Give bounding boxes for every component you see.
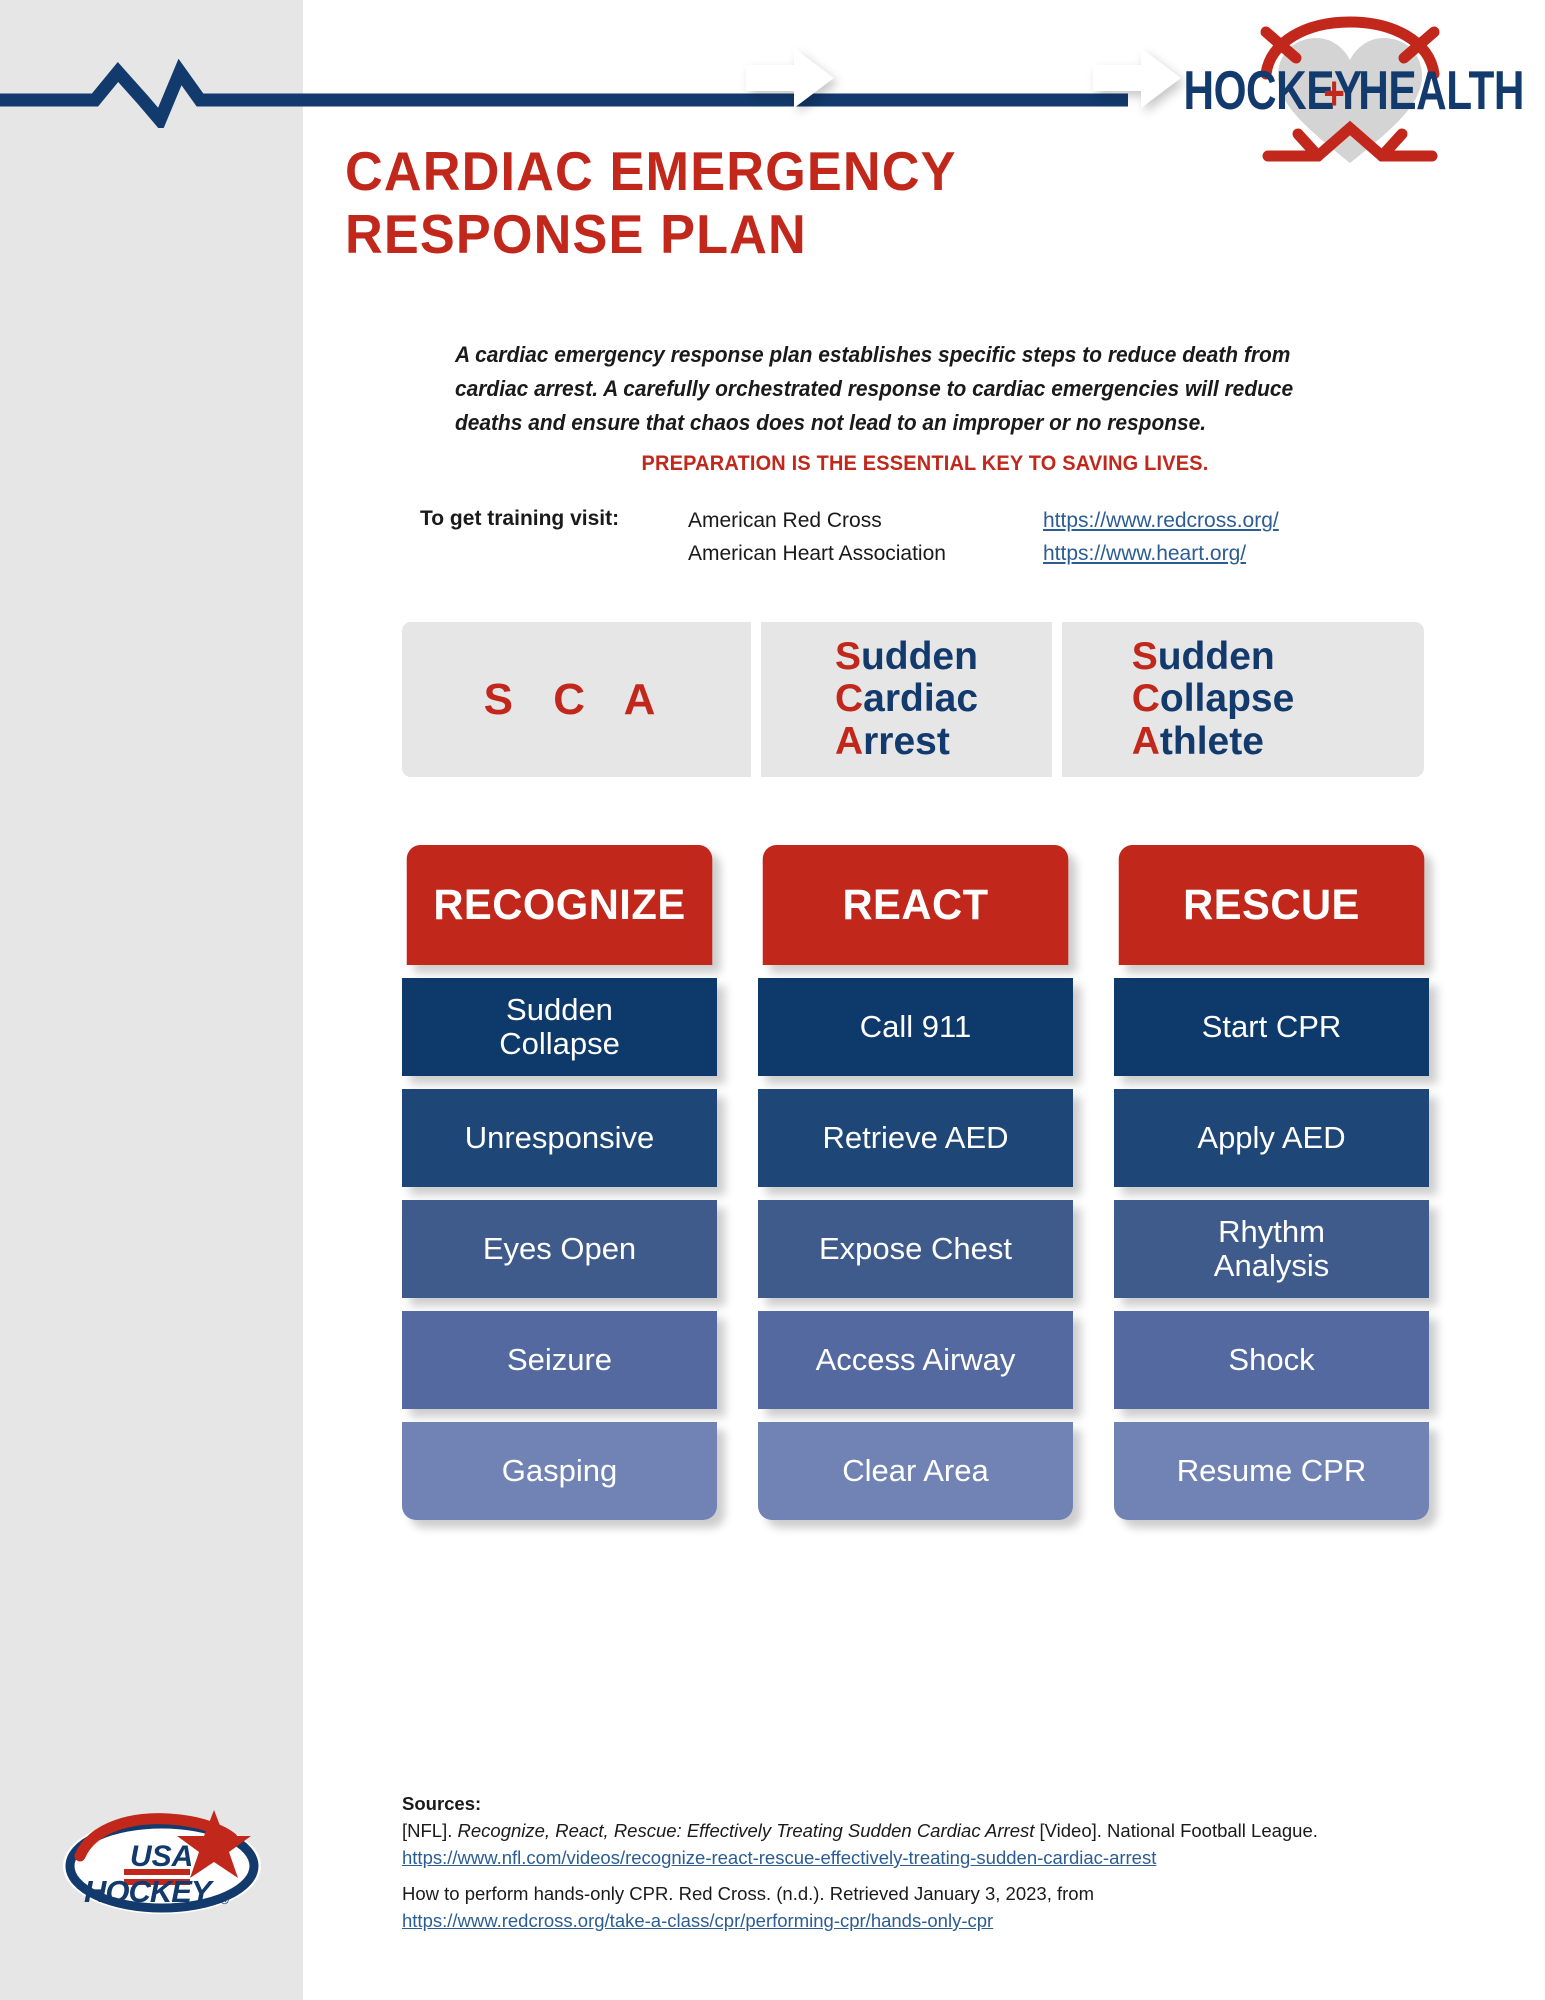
sca-cap-c: C (835, 677, 863, 720)
column-header-recognize: RECOGNIZE (407, 845, 713, 965)
step-label: Gasping (502, 1454, 617, 1488)
step-label: Eyes Open (483, 1232, 636, 1266)
intro-paragraph: A cardiac emergency response plan establ… (455, 338, 1329, 439)
step-cell: Gasping (402, 1422, 717, 1520)
column-rescue: RESCUE Start CPR Apply AED RhythmAnalysi… (1114, 845, 1429, 1520)
step-cell: Call 911 (758, 978, 1073, 1076)
sca-rest: rrest (863, 720, 950, 763)
hockey-health-logo: HOCKEY + HEALTH (1178, 8, 1523, 173)
step-label: Call 911 (860, 1010, 971, 1044)
sources-section: Sources: [NFL]. Recognize, React, Rescue… (402, 1790, 1462, 1934)
column-recognize: RECOGNIZE SuddenCollapse Unresponsive Ey… (402, 845, 717, 1520)
step-cell: Apply AED (1114, 1089, 1429, 1187)
step-cell: Expose Chest (758, 1200, 1073, 1298)
sca-step-3-cell: Sudden Collapse Athlete (1062, 622, 1364, 777)
training-row: American Heart Association https://www.h… (688, 538, 1279, 571)
step-label: RhythmAnalysis (1214, 1215, 1329, 1283)
source-entry-2: How to perform hands-only CPR. Red Cross… (402, 1880, 1462, 1907)
heartbeat-line-icon (0, 58, 1130, 128)
step-label: Start CPR (1202, 1010, 1342, 1044)
step-cell: Shock (1114, 1311, 1429, 1409)
sca-rest: udden (1158, 635, 1275, 678)
column-header-rescue: RESCUE (1119, 845, 1425, 965)
usa-text: USA (130, 1840, 193, 1873)
left-gray-rail (0, 0, 303, 2000)
arrow-right-icon (746, 48, 834, 108)
step-label: Seizure (507, 1343, 612, 1377)
training-org-list: American Red Cross https://www.redcross.… (688, 505, 1279, 570)
step-label: Apply AED (1197, 1121, 1345, 1155)
org-link[interactable]: https://www.redcross.org/ (1043, 505, 1279, 538)
sca-cap-a: A (835, 720, 863, 763)
step-cell: Retrieve AED (758, 1089, 1073, 1187)
sca-cap-a: A (1132, 720, 1160, 763)
step-label: Unresponsive (465, 1121, 655, 1155)
step-cell: Resume CPR (1114, 1422, 1429, 1520)
step-cell: Start CPR (1114, 978, 1429, 1076)
sca-rest: udden (861, 635, 978, 678)
poster-page: HOCKEY + HEALTH CARDIAC EMERGENCY RESPON… (0, 0, 1545, 2000)
tagline: PREPARATION IS THE ESSENTIAL KEY TO SAVI… (479, 452, 1372, 476)
sca-abbreviation-cell: S C A (402, 622, 751, 777)
sca-step-2-text: Sudden Cardiac Arrest (835, 636, 978, 762)
sca-rest: thlete (1160, 720, 1264, 763)
step-label: Access Airway (816, 1343, 1016, 1377)
sca-flow-banner: S C A Sudden Cardiac Arrest Sudden Colla… (402, 622, 1424, 777)
sca-abbreviation: S C A (484, 675, 670, 725)
step-cell: Clear Area (758, 1422, 1073, 1520)
intro-text: A cardiac emergency response plan establ… (455, 338, 1329, 439)
logo-plus-icon: + (1323, 67, 1344, 119)
three-r-columns: RECOGNIZE SuddenCollapse Unresponsive Ey… (402, 845, 1430, 1520)
sca-divider (1052, 622, 1062, 777)
source-link-1[interactable]: https://www.nfl.com/videos/recognize-rea… (402, 1844, 1156, 1871)
sca-rest: ardiac (863, 677, 978, 720)
org-link[interactable]: https://www.heart.org/ (1043, 538, 1246, 571)
page-title: CARDIAC EMERGENCY RESPONSE PLAN (345, 140, 1105, 265)
sca-cap-c: C (1132, 677, 1160, 720)
step-cell: SuddenCollapse (402, 978, 717, 1076)
registered-mark: ® (220, 1893, 229, 1907)
org-name: American Heart Association (688, 538, 1043, 571)
title-line-1: CARDIAC EMERGENCY (345, 140, 1105, 203)
step-label: Retrieve AED (822, 1121, 1008, 1155)
step-label: Clear Area (842, 1454, 988, 1488)
sca-cap-s: S (1132, 635, 1158, 678)
hockey-text: HOCKEY (84, 1874, 215, 1909)
sca-step-3-text: Sudden Collapse Athlete (1132, 636, 1295, 762)
logo-health-text: HEALTH (1358, 61, 1523, 121)
org-name: American Red Cross (688, 505, 1043, 538)
sca-divider (751, 622, 761, 777)
step-cell: Unresponsive (402, 1089, 717, 1187)
step-cell: Access Airway (758, 1311, 1073, 1409)
training-row: American Red Cross https://www.redcross.… (688, 505, 1279, 538)
step-label: SuddenCollapse (499, 993, 620, 1061)
arrow-right-icon (1093, 48, 1181, 108)
step-label: Shock (1228, 1343, 1314, 1377)
step-label: Resume CPR (1177, 1454, 1367, 1488)
source-link-2[interactable]: https://www.redcross.org/take-a-class/cp… (402, 1907, 993, 1934)
step-cell: RhythmAnalysis (1114, 1200, 1429, 1298)
sources-heading: Sources: (402, 1790, 1462, 1817)
training-label: To get training visit: (420, 507, 619, 531)
column-react: REACT Call 911 Retrieve AED Expose Chest… (758, 845, 1073, 1520)
source-entry-1: [NFL]. Recognize, React, Rescue: Effecti… (402, 1817, 1462, 1844)
sca-rest: ollapse (1160, 677, 1294, 720)
column-header-react: REACT (763, 845, 1069, 965)
sca-cap-s: S (835, 635, 861, 678)
step-cell: Eyes Open (402, 1200, 717, 1298)
sca-step-2-cell: Sudden Cardiac Arrest (761, 622, 1052, 777)
step-cell: Seizure (402, 1311, 717, 1409)
source-title: Recognize, React, Rescue: Effectively Tr… (458, 1820, 1035, 1841)
step-label: Expose Chest (819, 1232, 1012, 1266)
title-line-2: RESPONSE PLAN (345, 203, 1105, 266)
usa-hockey-logo: USA HOCKEY ® (62, 1798, 262, 1930)
source-prefix: [NFL]. (402, 1820, 458, 1841)
source-suffix: [Video]. National Football League. (1034, 1820, 1318, 1841)
